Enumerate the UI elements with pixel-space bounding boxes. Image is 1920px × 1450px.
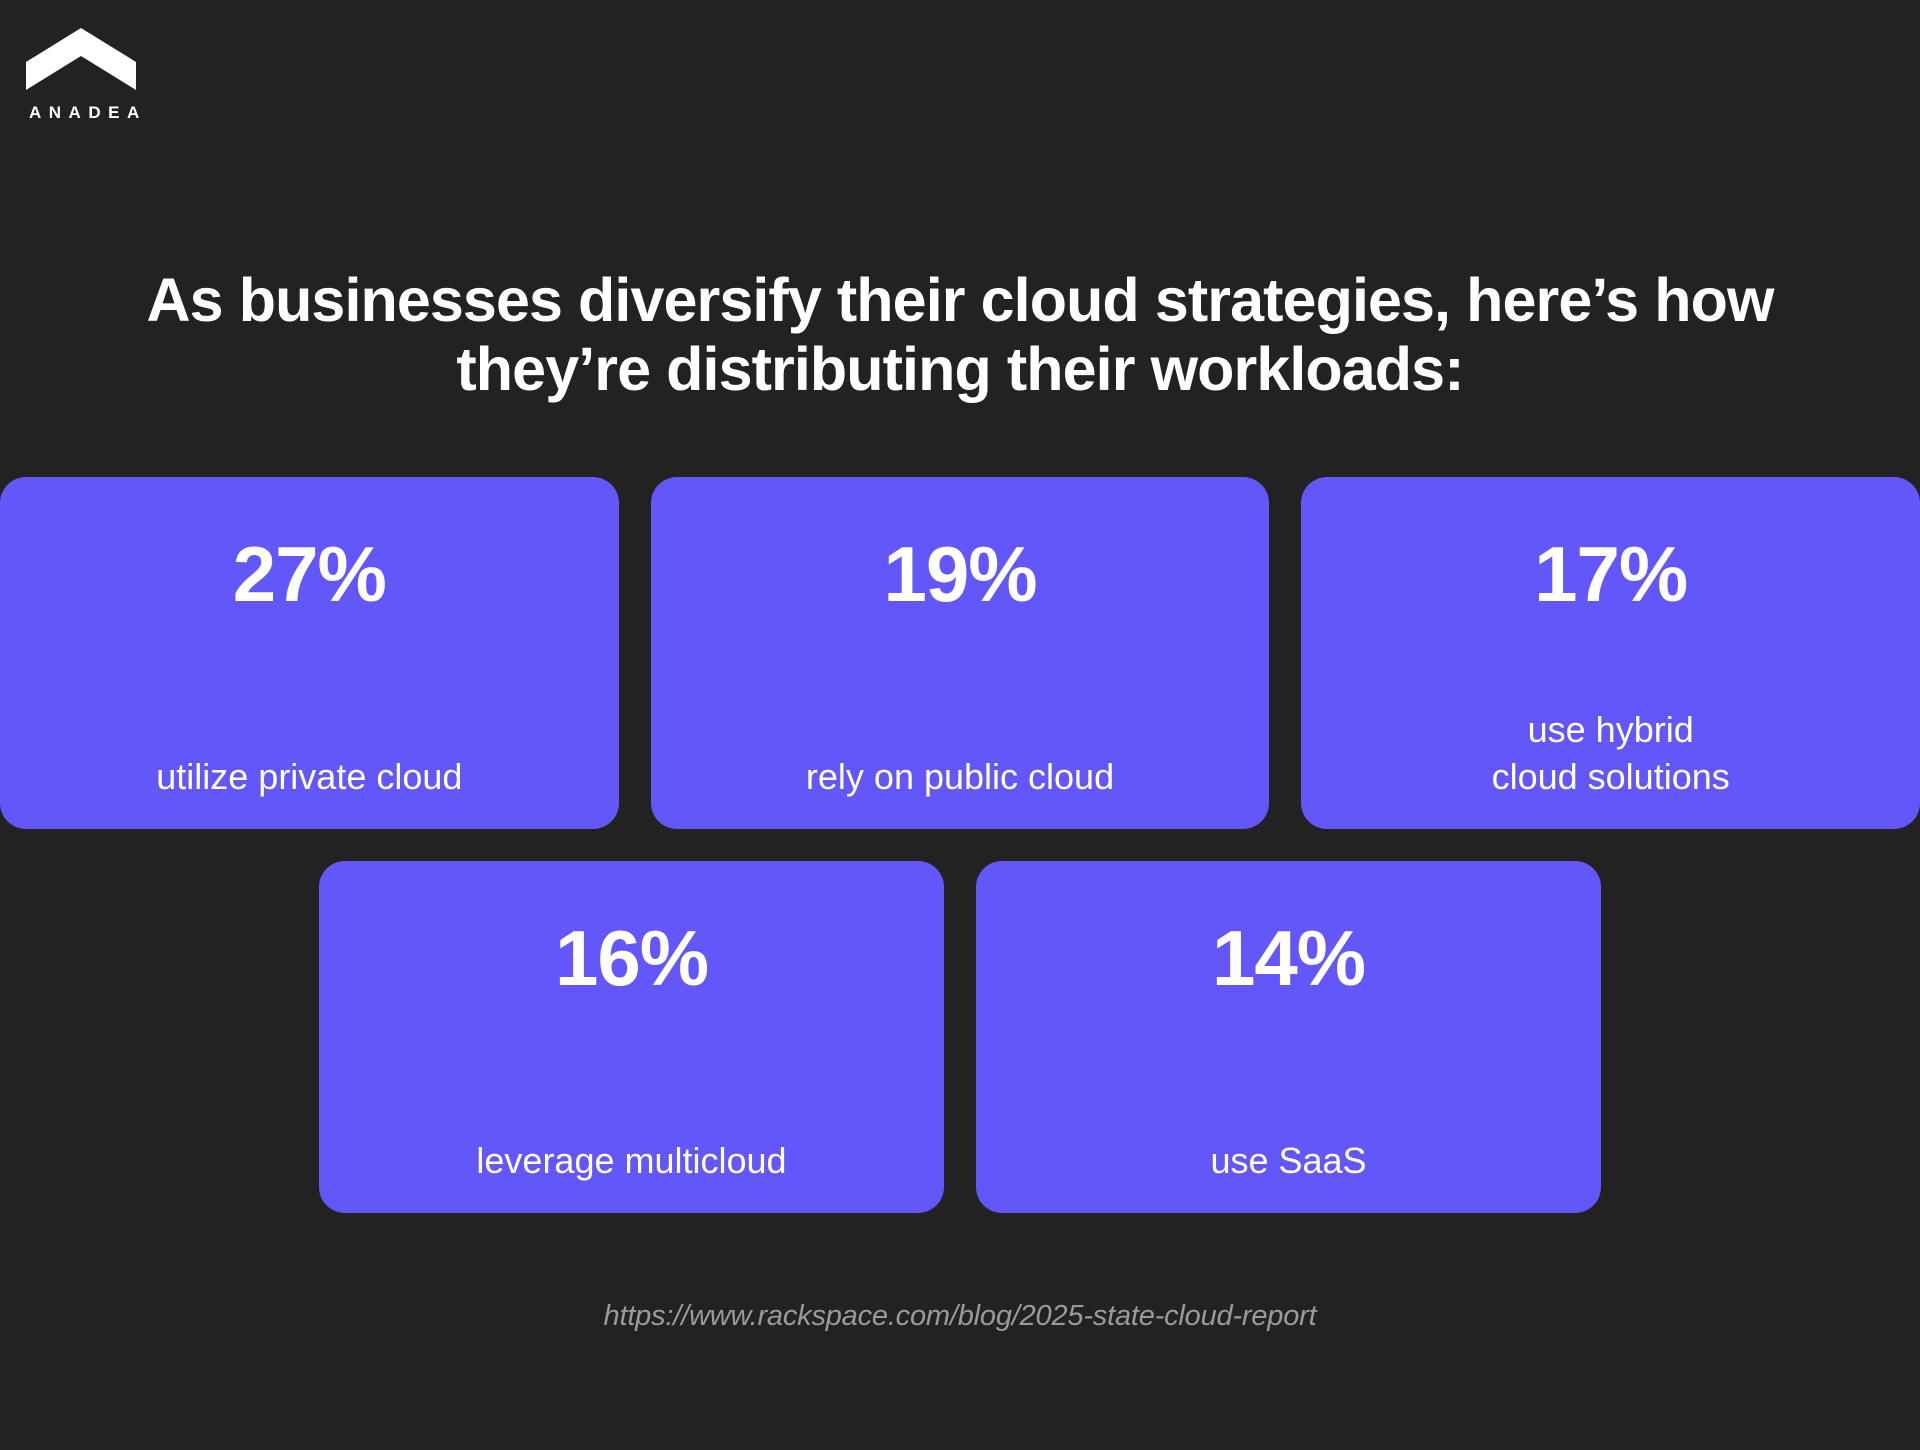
stat-card-hybrid-cloud: 17% use hybrid cloud solutions (1301, 477, 1920, 829)
stat-card-row-top: 27% utilize private cloud 19% rely on pu… (0, 477, 1920, 829)
stat-value: 17% (1534, 535, 1687, 613)
stat-label: use hybrid cloud solutions (1327, 706, 1894, 801)
stat-label: use SaaS (1002, 1137, 1575, 1185)
stat-label-line: use SaaS (1002, 1137, 1575, 1185)
stat-label: rely on public cloud (677, 753, 1244, 801)
stat-card-multicloud: 16% leverage multicloud (319, 861, 944, 1213)
stat-label: leverage multicloud (345, 1137, 918, 1185)
stat-card-private-cloud: 27% utilize private cloud (0, 477, 619, 829)
stat-value: 27% (233, 535, 386, 613)
stat-cards-area: 27% utilize private cloud 19% rely on pu… (0, 477, 1920, 1213)
page-title-line-1: As businesses diversify their cloud stra… (120, 266, 1800, 336)
stat-label-line: rely on public cloud (677, 753, 1244, 801)
stat-label-line: leverage multicloud (345, 1137, 918, 1185)
stat-label: utilize private cloud (26, 753, 593, 801)
brand-wordmark: ANADEA (29, 104, 206, 121)
stat-label-line: use hybrid (1327, 706, 1894, 754)
source-url: https://www.rackspace.com/blog/2025-stat… (0, 1300, 1920, 1333)
stat-label-line: utilize private cloud (26, 753, 593, 801)
stat-card-saas: 14% use SaaS (976, 861, 1601, 1213)
stat-card-row-bottom: 16% leverage multicloud 14% use SaaS (0, 861, 1920, 1213)
brand-logo: ANADEA (26, 28, 206, 121)
stat-value: 14% (1212, 919, 1365, 997)
stat-value: 16% (555, 919, 708, 997)
stat-card-public-cloud: 19% rely on public cloud (651, 477, 1270, 829)
page-title: As businesses diversify their cloud stra… (0, 266, 1920, 405)
stat-value: 19% (883, 535, 1036, 613)
stat-label-line: cloud solutions (1327, 753, 1894, 801)
page-title-line-2: they’re distributing their workloads: (120, 335, 1800, 405)
chevron-up-icon (26, 28, 136, 90)
